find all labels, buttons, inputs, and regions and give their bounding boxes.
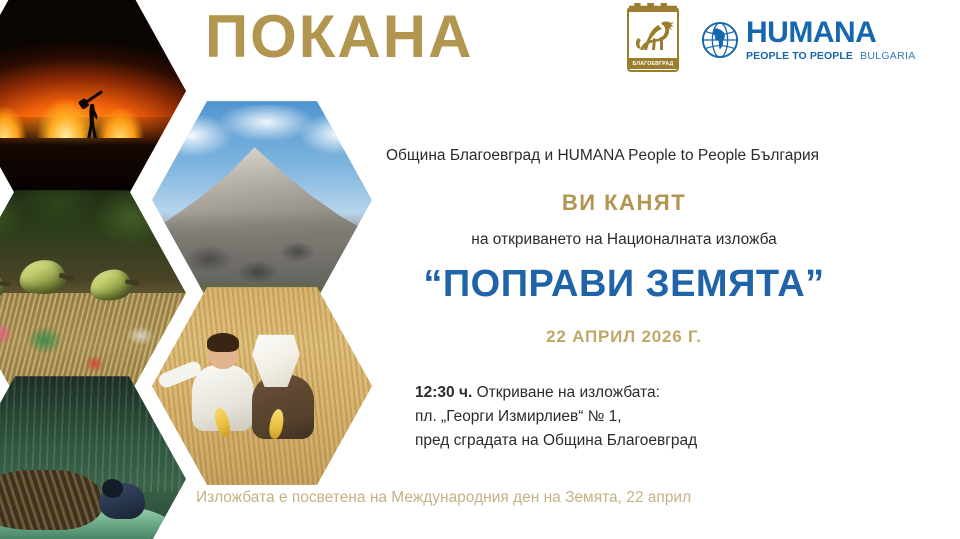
photo-children-wheat <box>152 283 372 489</box>
photo-collage <box>0 0 372 539</box>
detail-address-line2: пред сградата на Община Благоевград <box>415 429 697 453</box>
invite-line: ВИ КАНЯТ <box>386 190 862 216</box>
pegasus-icon <box>631 16 675 54</box>
coat-of-arms-banner: БЛАГОЕВГРАД <box>629 58 677 69</box>
humana-wordmark-text: HUMANA <box>746 18 916 48</box>
photo-mountain <box>152 97 372 303</box>
globe-icon <box>701 21 739 59</box>
opening-line: на откриването на Националната изложба <box>386 231 862 249</box>
detail-time-row: 12:30 ч. Откриване на изложбата: <box>415 381 697 405</box>
event-details: 12:30 ч. Откриване на изложбата: пл. „Ге… <box>415 381 697 453</box>
page-title: ПОКАНА <box>205 7 473 67</box>
humana-logo: HUMANA PEOPLE TO PEOPLE BULGARIA <box>701 18 916 62</box>
detail-time: 12:30 ч. <box>415 384 472 401</box>
photo-river-cleanup <box>0 372 186 539</box>
photo-wildfire <box>0 0 186 198</box>
humana-tagline: PEOPLE TO PEOPLE <box>746 50 853 62</box>
blagoevgrad-coat-of-arms-logo: БЛАГОЕВГРАД <box>627 8 679 72</box>
detail-address-line1: пл. „Георги Измирлиев“ № 1, <box>415 405 697 429</box>
invitation-poster: ПОКАНА БЛАГОЕВГРАД <box>0 0 960 539</box>
crown-icon <box>629 3 677 12</box>
humana-country: BULGARIA <box>860 50 916 62</box>
event-date: 22 АПРИЛ 2026 Г. <box>386 327 862 347</box>
footnote: Изложбата е посветена на Международния д… <box>196 489 691 507</box>
detail-time-text: Откриване на изложбата: <box>472 384 660 401</box>
photo-storks-waste <box>0 186 186 400</box>
organizers-line: Община Благоевград и HUMANA People to Pe… <box>386 147 819 165</box>
exhibition-title: “ПОПРАВИ ЗЕМЯТА” <box>381 263 867 306</box>
logo-group: БЛАГОЕВГРАД HUMANA PEOPLE TO PEOPLE BULG… <box>627 8 916 72</box>
